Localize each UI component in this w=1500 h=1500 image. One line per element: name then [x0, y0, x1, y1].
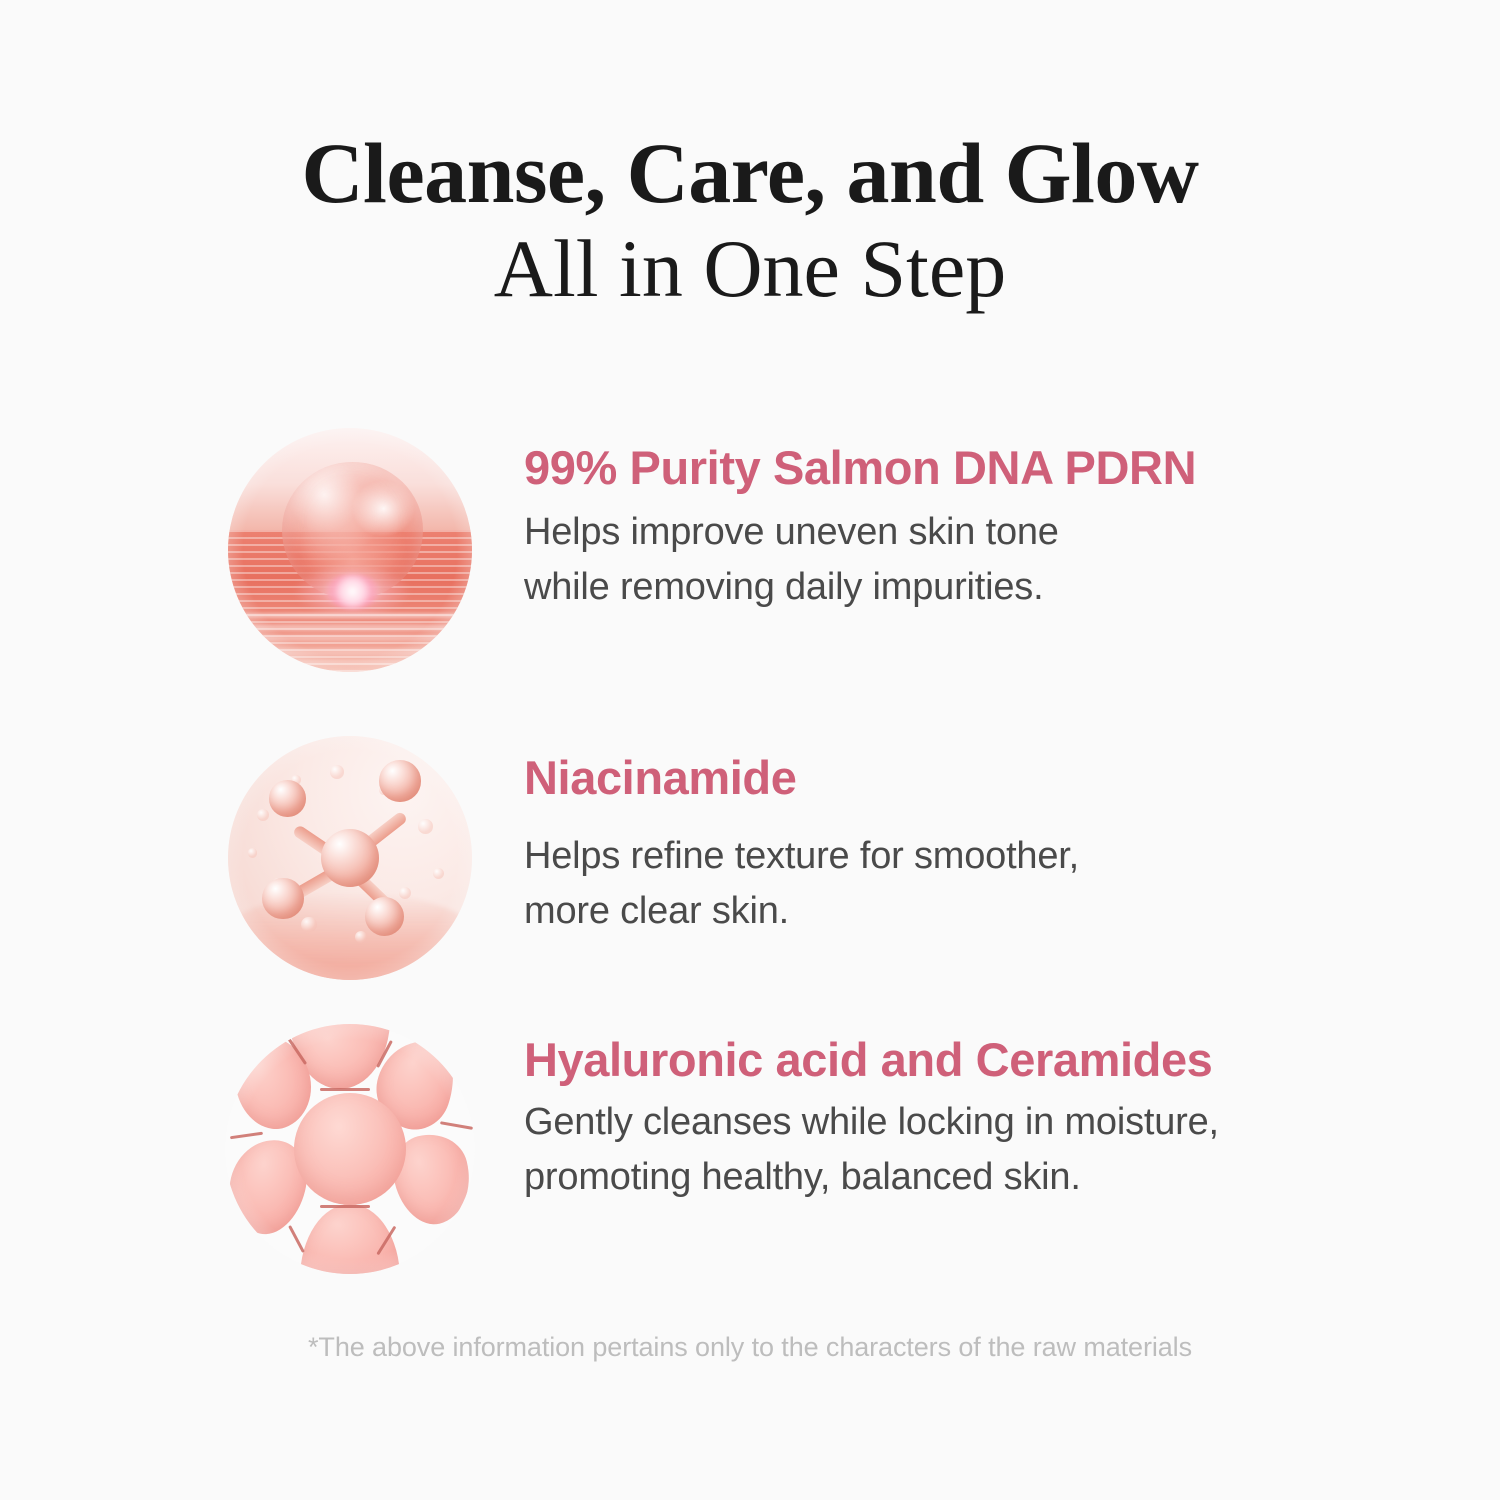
feature-body-line: while removing daily impurities.	[524, 560, 1344, 615]
feature-item-niacinamide: Niacinamide Helps refine texture for smo…	[0, 724, 1500, 1024]
feature-text-pdrn: 99% Purity Salmon DNA PDRN Helps improve…	[524, 442, 1344, 615]
feature-body: Gently cleanses while locking in moistur…	[524, 1095, 1344, 1205]
feature-body-line: Helps improve uneven skin tone	[524, 505, 1344, 560]
infographic-page: Cleanse, Care, and Glow All in One Step	[0, 0, 1500, 1500]
molecule-atom	[379, 760, 420, 801]
feature-body: Helps refine texture for smoother, more …	[524, 829, 1344, 939]
headline-line-1: Cleanse, Care, and Glow	[0, 128, 1500, 219]
molecule-image	[228, 736, 472, 980]
feature-text-hyaluronic: Hyaluronic acid and Ceramides Gently cle…	[524, 1034, 1344, 1205]
molecule-atom	[262, 878, 303, 919]
feature-body-line: promoting healthy, balanced skin.	[524, 1150, 1344, 1205]
lipid-center	[294, 1093, 407, 1206]
feature-item-hyaluronic: Hyaluronic acid and Ceramides Gently cle…	[0, 1024, 1500, 1324]
feature-list: 99% Purity Salmon DNA PDRN Helps improve…	[0, 424, 1500, 1324]
circle-vignette	[228, 428, 472, 672]
molecule-atom-center	[321, 829, 380, 888]
feature-body-line: Helps refine texture for smoother,	[524, 829, 1344, 884]
headline-line-2: All in One Step	[0, 221, 1500, 318]
feature-heading: Niacinamide	[524, 752, 1344, 805]
molecule-atom	[365, 897, 404, 936]
feature-text-niacinamide: Niacinamide Helps refine texture for smo…	[524, 752, 1344, 939]
feature-body-line: more clear skin.	[524, 884, 1344, 939]
feature-item-pdrn: 99% Purity Salmon DNA PDRN Helps improve…	[0, 424, 1500, 724]
footnote-disclaimer: *The above information pertains only to …	[0, 1332, 1500, 1363]
feature-body-line: Gently cleanses while locking in moistur…	[524, 1095, 1344, 1150]
feature-heading: 99% Purity Salmon DNA PDRN	[524, 442, 1344, 495]
droplet-on-water-image	[228, 428, 472, 672]
lipid-cluster-image	[225, 1024, 475, 1274]
feature-heading: Hyaluronic acid and Ceramides	[524, 1034, 1344, 1087]
molecule-atom	[269, 780, 306, 817]
page-title: Cleanse, Care, and Glow All in One Step	[0, 128, 1500, 318]
feature-body: Helps improve uneven skin tone while rem…	[524, 505, 1344, 615]
